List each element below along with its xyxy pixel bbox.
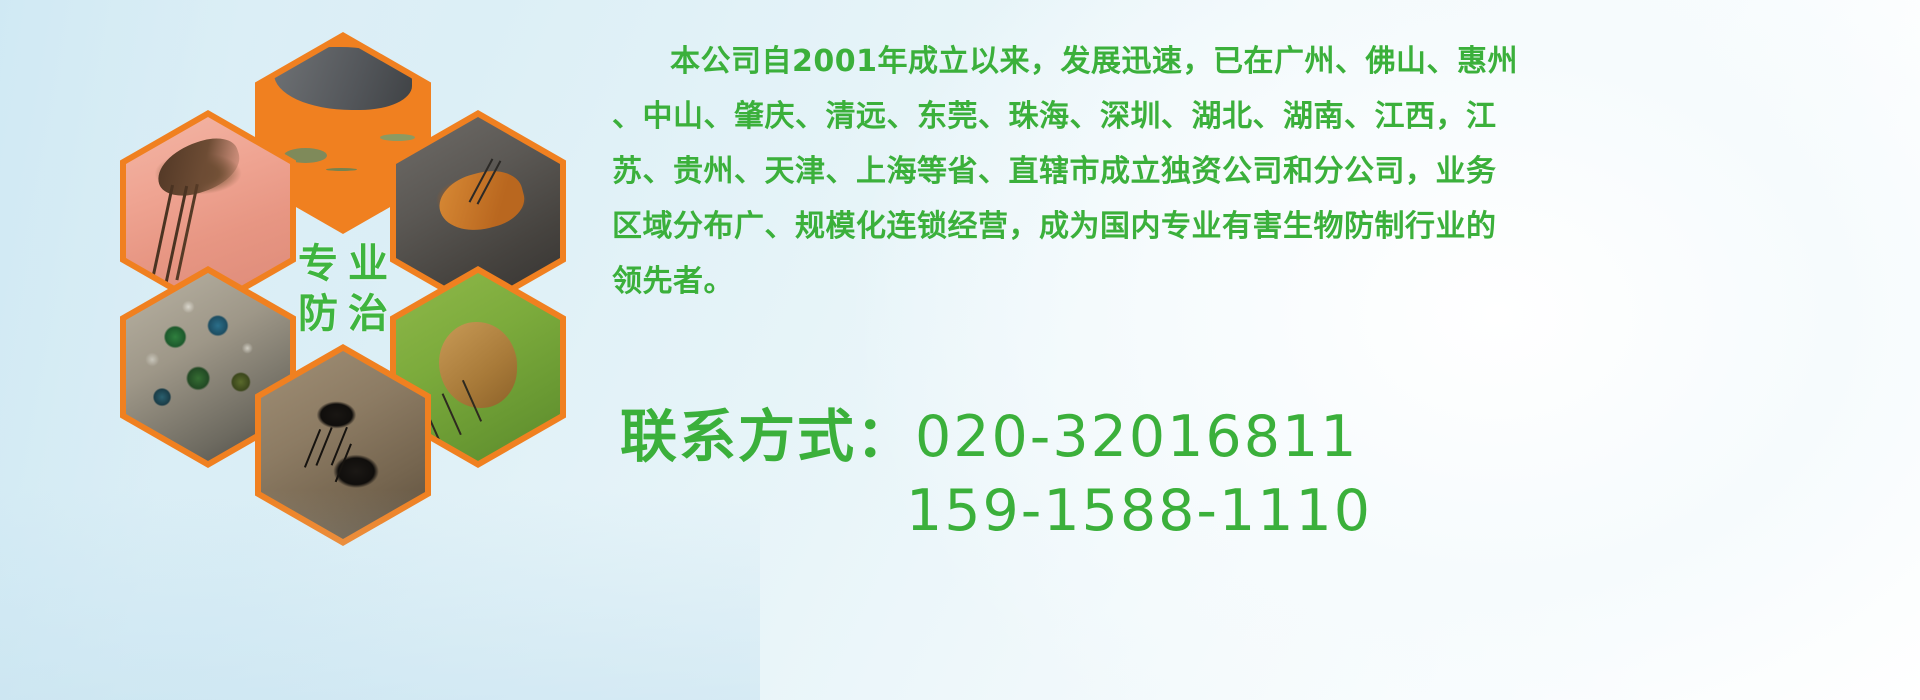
intro-line-4: 区域分布广、规模化连锁经营，成为国内专业有害生物防制行业的 bbox=[612, 199, 1900, 254]
contact-primary-row: 联系方式：020-32016811 bbox=[620, 400, 1920, 474]
contact-phone-1[interactable]: 020-32016811 bbox=[915, 404, 1358, 470]
intro-line-1: 本公司自2001年成立以来，发展迅速，已在广州、佛山、惠州 bbox=[612, 34, 1900, 89]
intro-line-2: 、中山、肇庆、清远、东莞、珠海、深圳、湖北、湖南、江西，江 bbox=[612, 89, 1900, 144]
slogan-line-2: 防治 bbox=[288, 294, 398, 334]
honeycomb-gallery: 专业 防治 bbox=[80, 0, 600, 700]
promo-banner: 专业 防治 本公司自2001年成立以来，发展迅速，已在广州、佛山、惠州 、中山、… bbox=[0, 0, 1920, 700]
slogan-line-1: 专业 bbox=[288, 244, 398, 284]
contact-secondary-row: 159-1588-1110 bbox=[620, 474, 1920, 548]
contact-label: 联系方式： bbox=[620, 404, 915, 470]
intro-line-5: 领先者。 bbox=[612, 254, 1900, 309]
contact-phone-2[interactable]: 159-1588-1110 bbox=[906, 478, 1372, 544]
intro-paragraph: 本公司自2001年成立以来，发展迅速，已在广州、佛山、惠州 、中山、肇庆、清远、… bbox=[612, 34, 1900, 309]
company-intro: 本公司自2001年成立以来，发展迅速，已在广州、佛山、惠州 、中山、肇庆、清远、… bbox=[612, 34, 1900, 309]
contact-block: 联系方式：020-32016811 159-1588-1110 bbox=[620, 400, 1920, 548]
intro-line-3: 苏、贵州、天津、上海等省、直辖市成立独资公司和分公司，业务 bbox=[612, 144, 1900, 199]
